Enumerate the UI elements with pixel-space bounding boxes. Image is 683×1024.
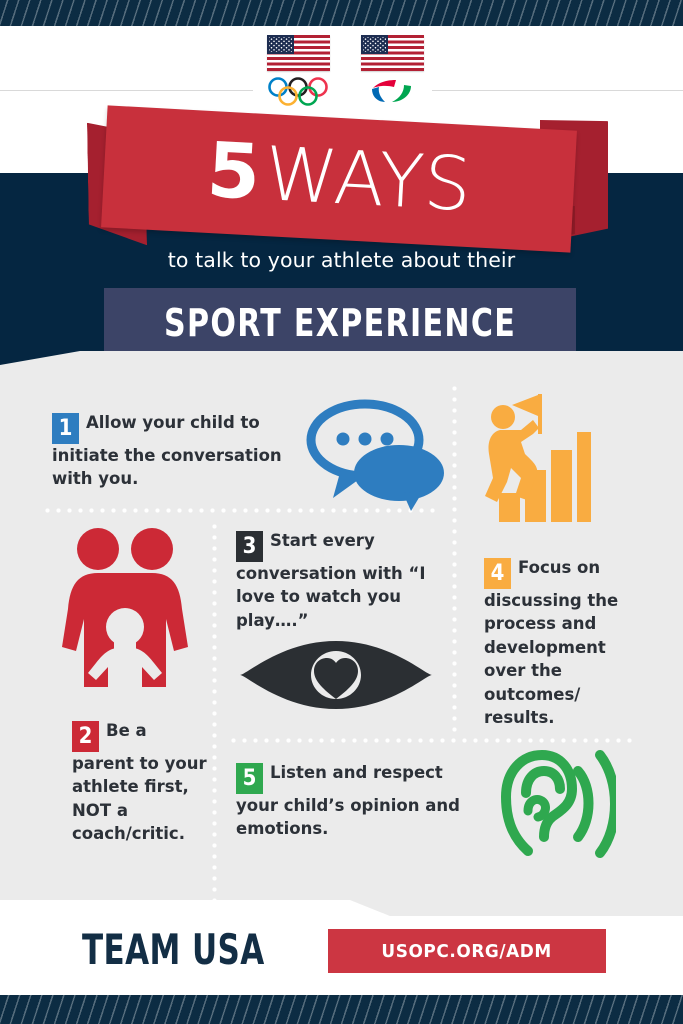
footer-corner-shape	[350, 900, 683, 916]
ribbon-body: 5WAYS	[101, 105, 577, 252]
brand-logo: TEAM USA	[82, 925, 265, 974]
tips-content-area: 1Allow your child to initiate the conver…	[0, 351, 683, 900]
eye-heart-icon	[238, 637, 434, 713]
ribbon-number: 5	[205, 125, 262, 217]
separator-col-right	[452, 383, 457, 733]
climber-bar-chart-icon	[481, 392, 591, 522]
tip-1-badge: 1	[52, 413, 79, 444]
separator-col-left	[212, 521, 217, 903]
olympic-rings-icon	[267, 76, 329, 106]
subtitle: to talk to your athlete about their	[0, 248, 683, 272]
usa-flag-icon	[361, 35, 424, 71]
paralympic-logo-unit	[353, 35, 431, 117]
tip-2-text: 2Be a parent to your athlete first, NOT …	[72, 719, 207, 846]
tip-2-badge: 2	[72, 721, 99, 752]
tip-2: 2Be a parent to your athlete first, NOT …	[72, 719, 207, 846]
usa-flag-icon	[267, 35, 330, 71]
separator-row2	[228, 738, 638, 743]
tip-3-text: 3Start every conversation with “I love t…	[236, 529, 436, 632]
tip-3-label: Start every conversation with “I love to…	[236, 531, 426, 630]
speech-bubbles-icon	[303, 393, 449, 511]
bottom-stripe-band	[0, 995, 683, 1024]
tip-5-label: Listen and respect your child’s opinion …	[236, 763, 460, 838]
tip-5-badge: 5	[236, 763, 263, 794]
tip-4-text: 4Focus on discussing the process and dev…	[484, 556, 634, 730]
divider-rule-left	[0, 90, 253, 91]
top-stripe-band	[0, 0, 683, 26]
family-icon	[58, 527, 198, 692]
tip-5: 5Listen and respect your child’s opinion…	[236, 761, 466, 841]
logo-group	[257, 35, 433, 117]
infographic-poster: 5WAYS to talk to your athlete about thei…	[0, 0, 683, 1024]
ribbon-word: WAYS	[263, 131, 474, 228]
headline-box: SPORT EXPERIENCE	[104, 288, 576, 358]
ear-listening-icon	[466, 749, 616, 859]
paralympic-agitos-icon	[366, 76, 418, 106]
tip-3-badge: 3	[236, 531, 263, 562]
page-title: SPORT EXPERIENCE	[164, 301, 516, 345]
title-ribbon: 5WAYS	[0, 118, 683, 258]
tip-4: 4Focus on discussing the process and dev…	[484, 556, 634, 730]
tip-1: 1Allow your child to initiate the conver…	[52, 411, 302, 491]
tip-5-text: 5Listen and respect your child’s opinion…	[236, 761, 466, 841]
url-label: USOPC.ORG/ADM	[382, 941, 552, 962]
tip-1-text: 1Allow your child to initiate the conver…	[52, 411, 302, 491]
url-button[interactable]: USOPC.ORG/ADM	[328, 929, 606, 973]
olympic-logo-unit	[259, 35, 337, 117]
divider-rule-right	[432, 90, 683, 91]
tip-1-label: Allow your child to initiate the convers…	[52, 413, 282, 488]
tip-4-badge: 4	[484, 558, 511, 589]
tip-3: 3Start every conversation with “I love t…	[236, 529, 436, 632]
